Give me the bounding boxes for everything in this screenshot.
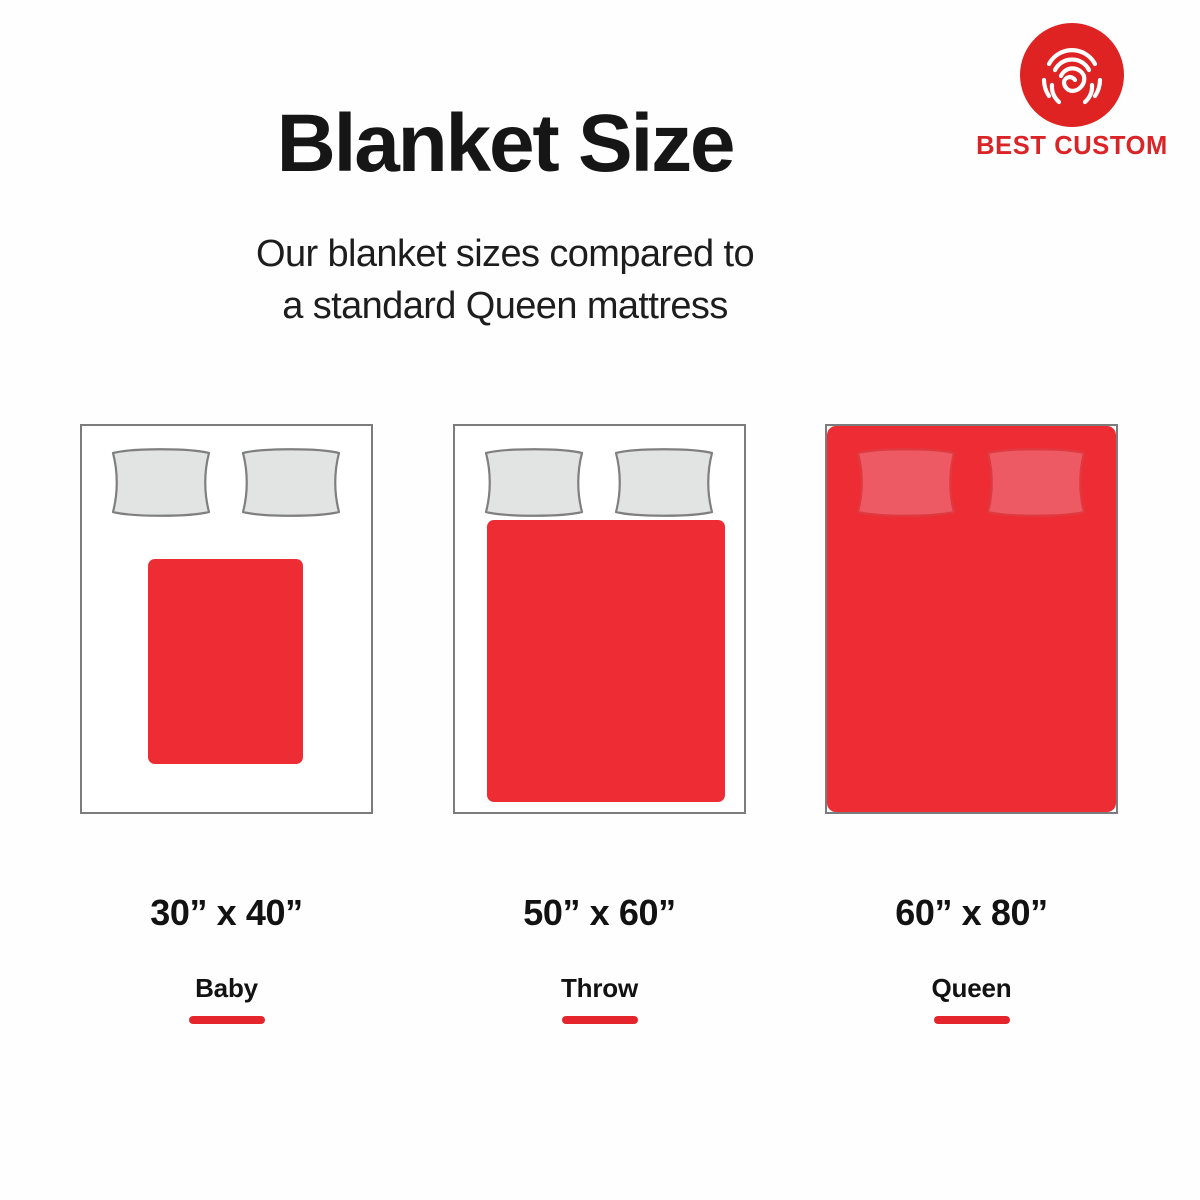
size-label-throw: 50” x 60” Throw xyxy=(453,895,746,1024)
blanket-queen xyxy=(827,426,1116,812)
underline-accent xyxy=(934,1016,1010,1024)
bed-inner-queen xyxy=(827,426,1116,812)
pillow-icon xyxy=(852,446,960,519)
dimensions-text: 60” x 80” xyxy=(825,895,1118,931)
pillow-icon xyxy=(107,446,215,519)
size-type-name: Throw xyxy=(453,975,746,1001)
size-type-name: Baby xyxy=(80,975,373,1001)
underline-accent xyxy=(189,1016,265,1024)
dimensions-text: 50” x 60” xyxy=(453,895,746,931)
size-label-queen: 60” x 80” Queen xyxy=(825,895,1118,1024)
bed-inner-throw xyxy=(455,426,744,812)
page-subtitle: Our blanket sizes compared to a standard… xyxy=(0,228,1200,332)
subtitle-line-1: Our blanket sizes compared to xyxy=(0,228,1010,280)
dimensions-text: 30” x 40” xyxy=(80,895,373,931)
pillow-icon xyxy=(982,446,1090,519)
pillow-icon xyxy=(480,446,588,519)
bed-inner-baby xyxy=(82,426,371,812)
subtitle-line-2: a standard Queen mattress xyxy=(0,280,1010,332)
blanket-baby xyxy=(148,559,303,764)
underline-accent xyxy=(562,1016,638,1024)
bed-diagram-queen xyxy=(825,424,1118,814)
bed-diagram-baby xyxy=(80,424,373,814)
blanket-throw xyxy=(487,520,725,802)
size-type-name: Queen xyxy=(825,975,1118,1001)
page-title: Blanket Size xyxy=(0,103,1200,185)
bed-diagram-throw xyxy=(453,424,746,814)
infographic-canvas: BEST CUSTOM Blanket Size Our blanket siz… xyxy=(0,0,1200,1200)
pillow-icon xyxy=(610,446,718,519)
bed-comparison-row xyxy=(0,424,1200,816)
size-labels-row: 30” x 40” Baby 50” x 60” Throw 60” x 80”… xyxy=(0,895,1200,1055)
size-label-baby: 30” x 40” Baby xyxy=(80,895,373,1024)
pillow-icon xyxy=(237,446,345,519)
